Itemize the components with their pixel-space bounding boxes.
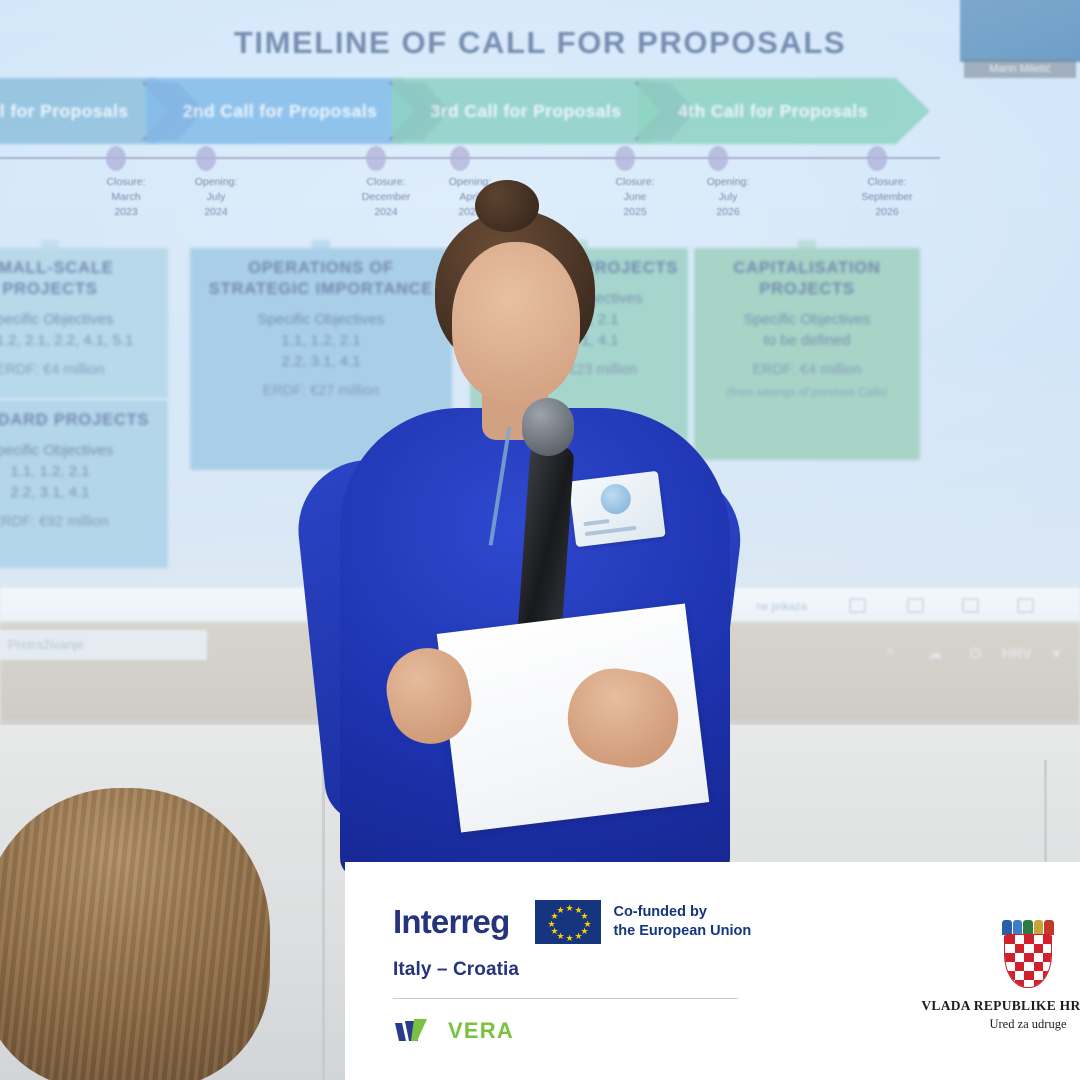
battery-icon[interactable]: ⏻: [970, 645, 981, 662]
card-tab: [798, 240, 816, 250]
project-card-standard-left-body: Specific Objectives 1.1, 1.2, 2.1 2.2, 3…: [0, 440, 113, 503]
wifi-icon[interactable]: ▾: [1053, 645, 1060, 662]
project-card-small-scale: SMALL-SCALE PROJECTS Specific Objectives…: [0, 248, 168, 398]
presenter-figure: [300, 170, 790, 880]
project-card-small-scale-funding: ERDF: €4 million: [0, 361, 104, 380]
eu-emblem-text: Co-funded by the European Union: [613, 903, 751, 941]
badge-text-line: [583, 519, 609, 526]
timeline-arrow-1-label: 1st Call for Proposals: [0, 101, 128, 122]
government-title: VLADA REPUBLIKE HRVATSKE: [893, 998, 1080, 1014]
cloud-icon[interactable]: ☁: [928, 645, 942, 662]
eu-emblem-line2: the European Union: [613, 922, 751, 941]
eu-flag-icon: ★ ★ ★ ★ ★ ★ ★ ★ ★ ★ ★ ★: [535, 900, 601, 944]
video-participant-tile[interactable]: [960, 0, 1080, 62]
gallery-view-icon[interactable]: [907, 598, 924, 613]
milestone-node-4: [450, 146, 470, 171]
timeline-arrow-2-label: 2nd Call for Proposals: [183, 101, 378, 122]
coat-of-arms-shield: [1004, 934, 1052, 988]
milestone-7-month: September: [827, 190, 947, 205]
microphone-head: [522, 398, 574, 456]
project-card-small-scale-body: Specific Objectives 1.1, 1.2, 2.1, 2.2, …: [0, 309, 133, 351]
milestone-2-type: Opening:: [156, 175, 276, 190]
timeline-axis: [0, 157, 940, 159]
footer-divider: [393, 998, 738, 999]
badge-text-line: [585, 526, 637, 536]
government-office: Ured za udruge: [893, 1017, 1080, 1032]
name-badge: [568, 471, 665, 547]
milestone-node-5: [615, 146, 635, 171]
slide-title: TIMELINE OF CALL FOR PROPOSALS: [0, 25, 1080, 61]
timeline-arrow-4-label: 4th Call for Proposals: [678, 101, 868, 122]
badge-seal-icon: [599, 482, 632, 515]
timeline-arrow-4: 4th Call for Proposals: [638, 78, 930, 144]
milestone-node-6: [708, 146, 728, 171]
present-icon[interactable]: [1017, 598, 1034, 613]
logo-footer-panel: Interreg ★ ★ ★ ★ ★ ★ ★ ★ ★ ★ ★ ★: [345, 862, 1080, 1080]
slide-view-icon[interactable]: [962, 598, 979, 613]
interreg-wordmark: Interreg: [393, 903, 509, 941]
video-participant-name: Marin Miletić: [964, 60, 1076, 78]
croatian-government-logo: VLADA REPUBLIKE HRVATSKE Ured za udruge: [893, 920, 1080, 1032]
croatia-coat-of-arms-icon: [1000, 920, 1056, 990]
card-tab: [41, 240, 59, 250]
project-card-small-scale-title: SMALL-SCALE PROJECTS: [0, 258, 160, 300]
milestone-node-3: [366, 146, 386, 171]
milestone-7-year: 2026: [827, 205, 947, 220]
milestone-node-7: [867, 146, 887, 171]
timeline-arrow-3-label: 3rd Call for Proposals: [431, 101, 622, 122]
vera-wordmark: VERA: [448, 1018, 514, 1044]
milestone-node-1: [106, 146, 126, 171]
timeline-arrow-band: 1st Call for Proposals 2nd Call for Prop…: [0, 78, 960, 144]
project-card-standard-left: STANDARD PROJECTS Specific Objectives 1.…: [0, 400, 168, 568]
milestone-label-2: Opening: July 2024: [156, 175, 276, 220]
eu-emblem-line1: Co-funded by: [613, 903, 751, 922]
coat-of-arms-crown: [1002, 920, 1054, 935]
milestone-label-7: Closure: September 2026: [827, 175, 947, 220]
audience-member-head: [0, 788, 270, 1080]
milestone-7-type: Closure:: [827, 175, 947, 190]
presenter-face: [452, 242, 580, 402]
grid-view-icon[interactable]: [849, 598, 866, 613]
taskbar-search-placeholder: Pretraživanje: [8, 637, 84, 652]
milestone-2-year: 2024: [156, 205, 276, 220]
vera-mark-icon: [393, 1017, 437, 1045]
eu-emblem: ★ ★ ★ ★ ★ ★ ★ ★ ★ ★ ★ ★ Co-funded: [535, 900, 751, 944]
project-card-standard-left-funding: ERDF: €92 million: [0, 513, 108, 532]
presenter-hair-bun: [475, 180, 539, 232]
milestone-node-2: [196, 146, 216, 171]
project-card-standard-left-title: STANDARD PROJECTS: [0, 410, 149, 431]
screenshot-root: TIMELINE OF CALL FOR PROPOSALS 1st Call …: [0, 0, 1080, 1080]
milestone-2-month: July: [156, 190, 276, 205]
language-indicator[interactable]: HRV: [1002, 645, 1031, 661]
chevron-up-icon[interactable]: ^: [886, 645, 894, 661]
